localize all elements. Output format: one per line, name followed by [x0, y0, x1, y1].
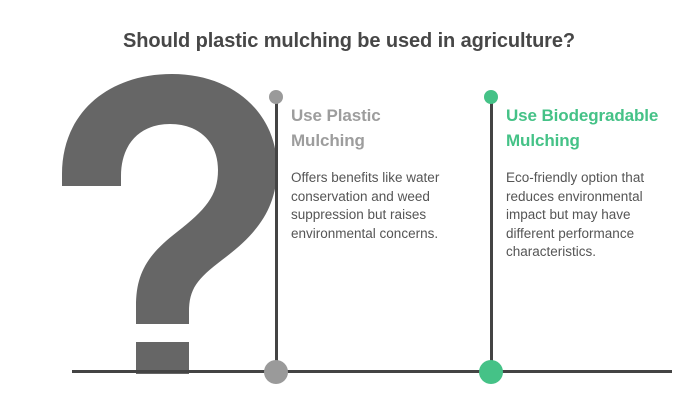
column-connector-line — [275, 96, 278, 368]
column-top-dot-icon — [484, 90, 498, 104]
column-top-dot-icon — [269, 90, 283, 104]
column-bottom-dot-icon — [479, 360, 503, 384]
page-title: Should plastic mulching be used in agric… — [0, 28, 698, 54]
column-text-block: Use Plastic Mulching Offers benefits lik… — [291, 103, 451, 243]
column-heading: Use Biodegradable Mulching — [506, 103, 671, 153]
column-bottom-dot-icon — [264, 360, 288, 384]
question-mark-icon — [62, 74, 277, 374]
column-body-text: Offers benefits like water conservation … — [291, 169, 451, 243]
column-heading: Use Plastic Mulching — [291, 103, 451, 153]
column-text-block: Use Biodegradable Mulching Eco-friendly … — [506, 103, 671, 262]
infographic-canvas: Should plastic mulching be used in agric… — [0, 0, 698, 408]
column-body-text: Eco-friendly option that reduces environ… — [506, 169, 671, 262]
column-connector-line — [490, 96, 493, 368]
question-mark-graphic — [62, 74, 277, 374]
baseline-axis — [72, 370, 672, 373]
